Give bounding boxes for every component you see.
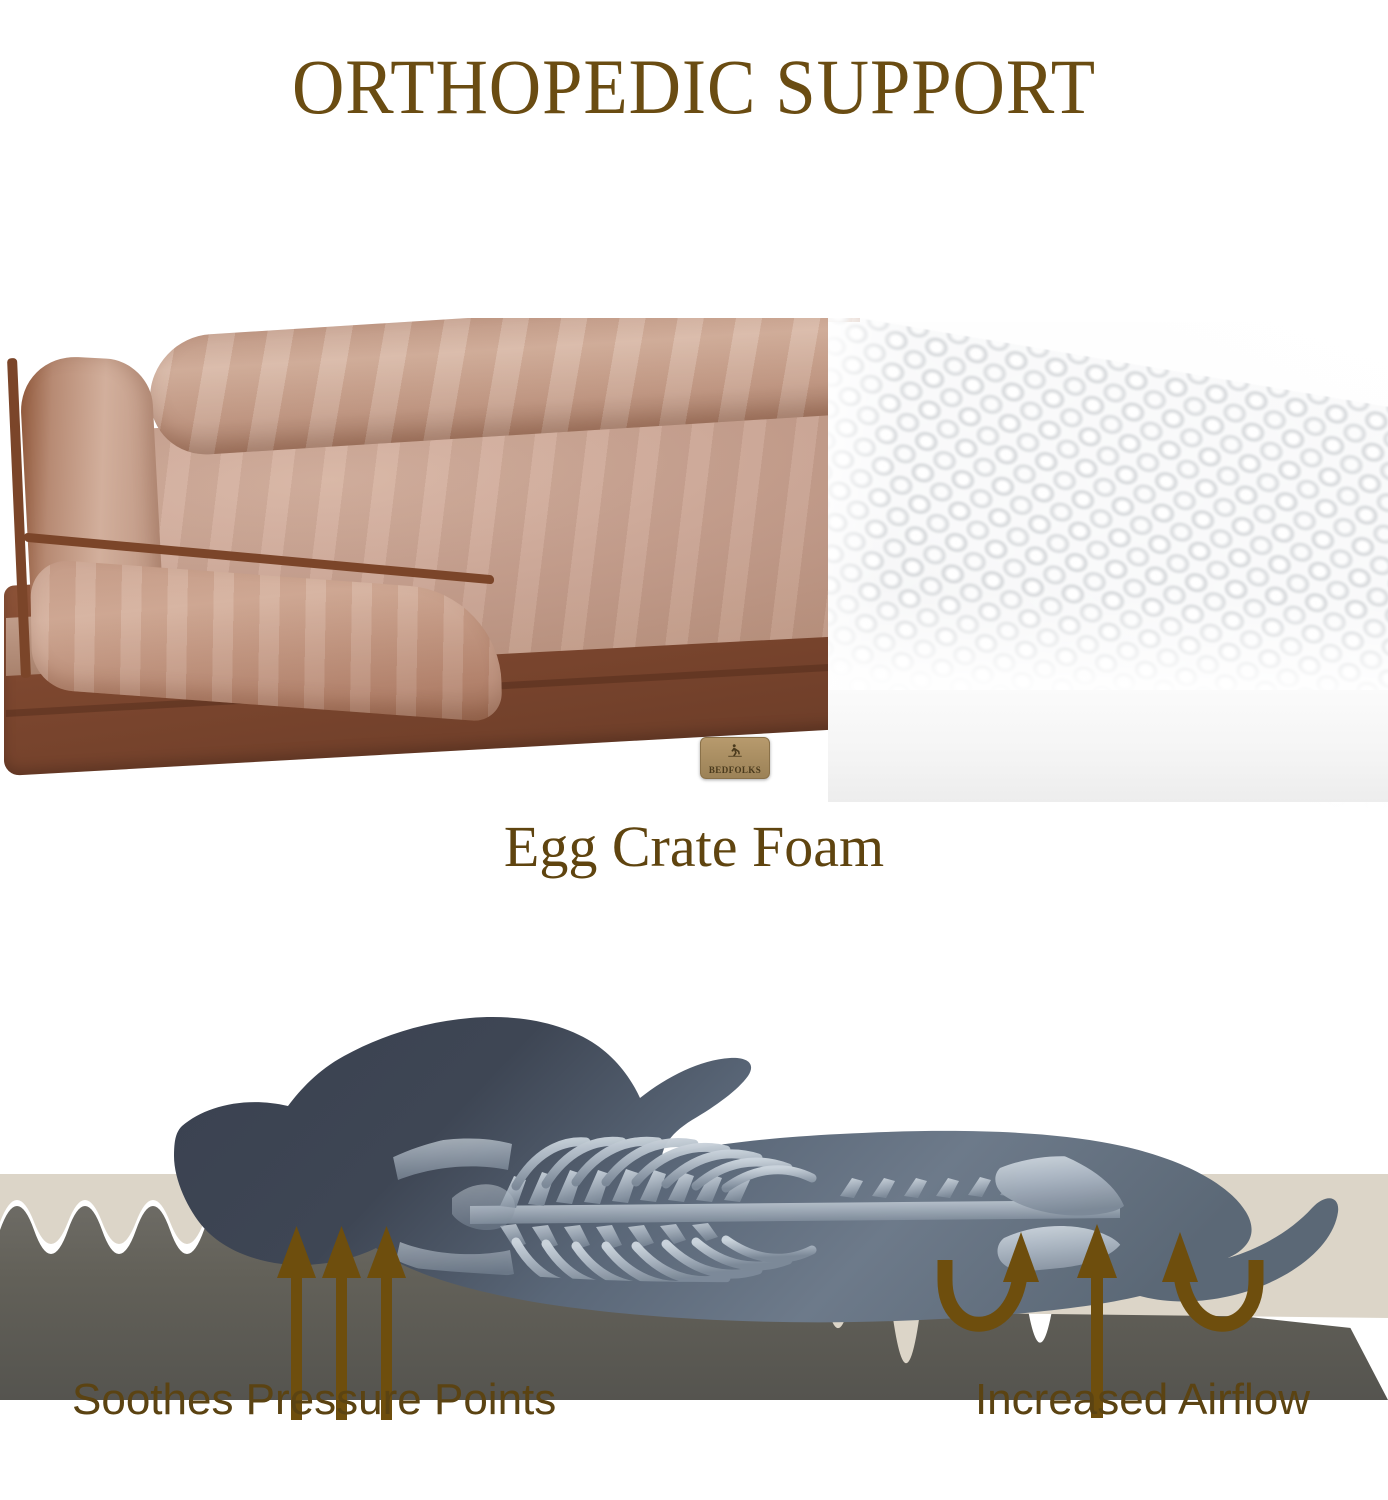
foam-front-face — [828, 690, 1388, 802]
cross-section-diagram: Soothes Pressure Points Increased Airflo… — [0, 930, 1388, 1420]
infographic-page: ORTHOPEDIC SUPPORT BEDFOLKS — [0, 0, 1388, 1500]
increased-airflow-caption: Increased Airflow — [975, 1376, 1310, 1424]
walking-dog-icon — [726, 742, 744, 760]
page-title: ORTHOPEDIC SUPPORT — [49, 48, 1340, 126]
dog-bed-photo — [0, 318, 860, 808]
product-photo-band — [0, 318, 1388, 808]
brand-tag-label: BEDFOLKS — [709, 766, 761, 775]
soothes-pressure-points-caption: Soothes Pressure Points — [72, 1376, 556, 1424]
egg-crate-foam-photo — [828, 318, 1388, 808]
egg-crate-foam-caption: Egg Crate Foam — [0, 818, 1388, 876]
brand-tag: BEDFOLKS — [700, 737, 770, 779]
